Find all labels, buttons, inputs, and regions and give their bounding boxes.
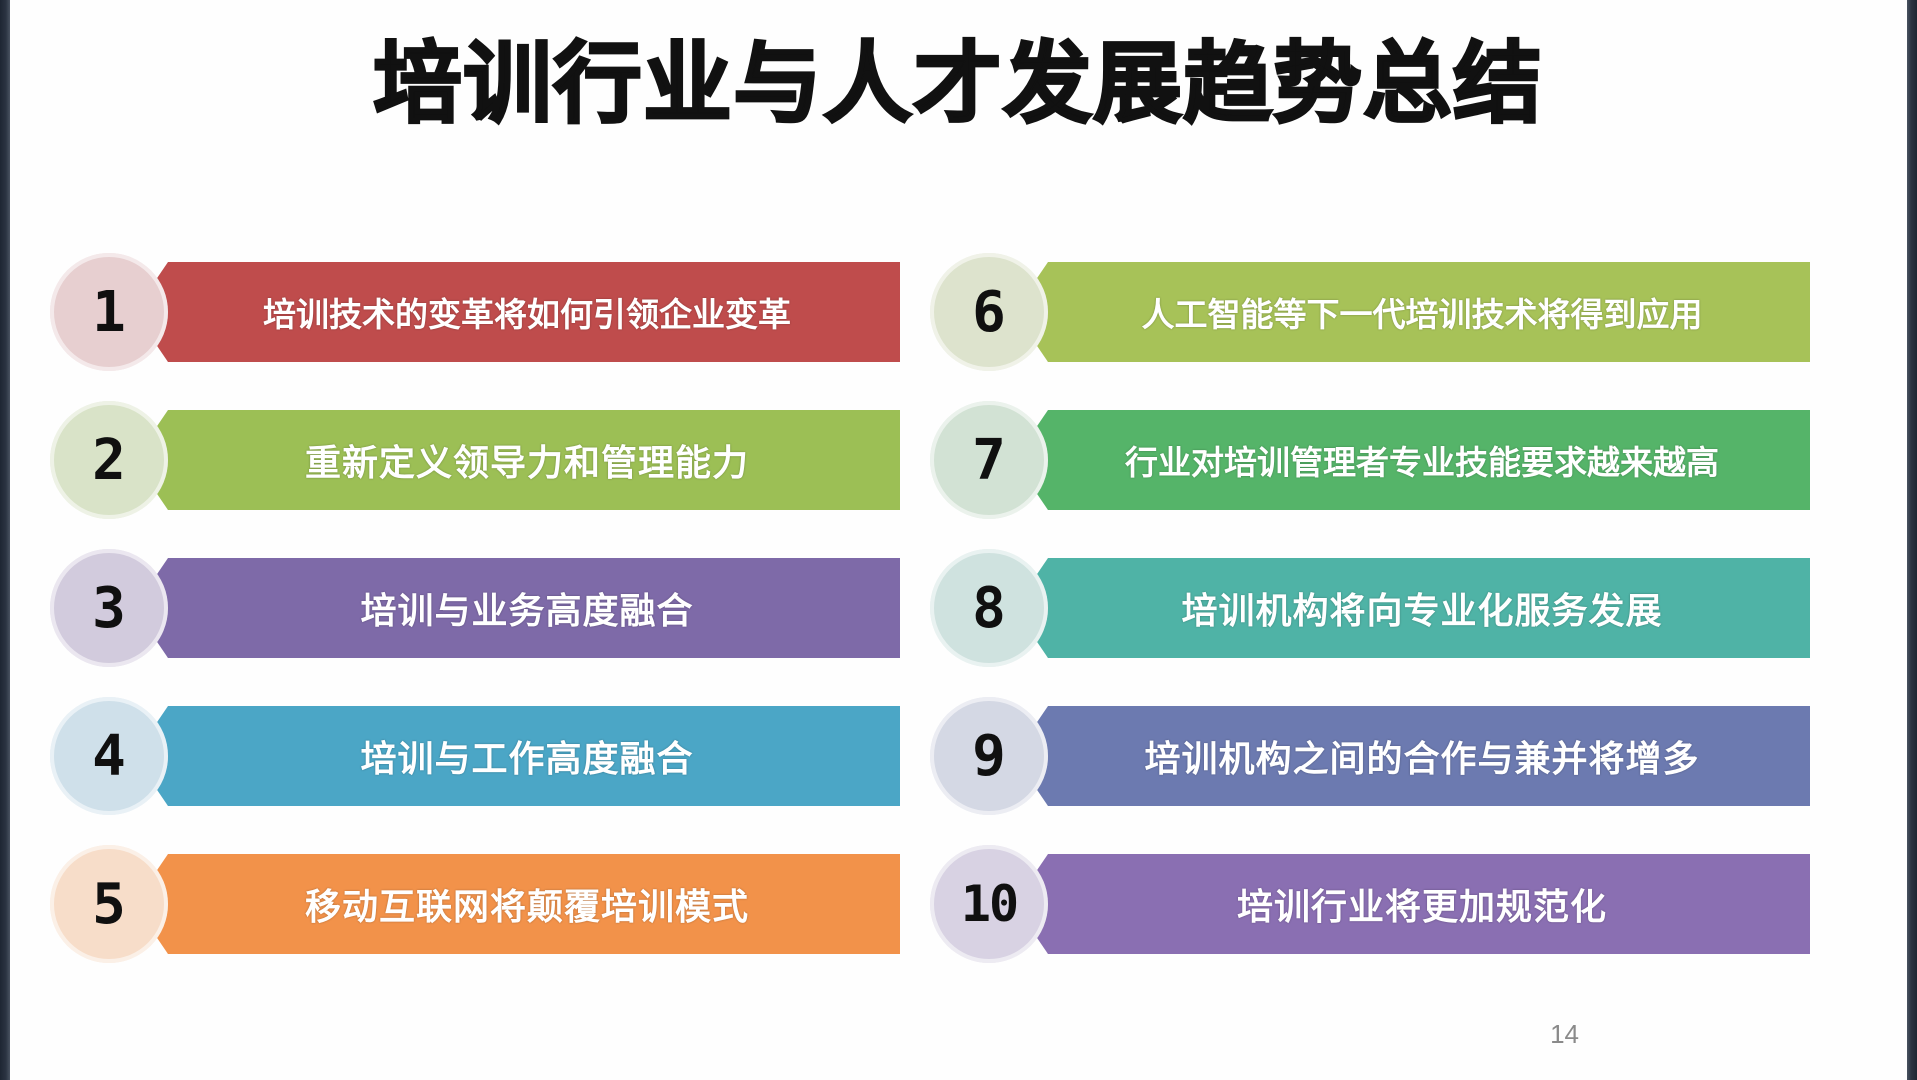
item-number-badge: 10 [930,845,1048,963]
item-number-badge: 5 [50,845,168,963]
page-title: 培训行业与人才发展趋势总结 [0,38,1917,130]
slide-canvas: 培训行业与人才发展趋势总结 1 培训技术的变革将如何引领企业变革 2 重新定义领… [0,0,1917,1080]
item-number-badge: 3 [50,549,168,667]
item-label: 培训机构之间的合作与兼并将增多 [1014,730,1810,782]
item-bar: 移动互联网将颠覆培训模式 [134,854,900,954]
item-label: 人工智能等下一代培训技术将得到应用 [1014,288,1810,336]
item-label: 培训机构将向专业化服务发展 [1014,582,1810,634]
list-item[interactable]: 7 行业对培训管理者专业技能要求越来越高 [930,401,1810,519]
list-item[interactable]: 6 人工智能等下一代培训技术将得到应用 [930,253,1810,371]
left-column: 1 培训技术的变革将如何引领企业变革 2 重新定义领导力和管理能力 3 培训与业… [50,253,900,993]
item-bar: 培训行业将更加规范化 [1014,854,1810,954]
item-label: 培训技术的变革将如何引领企业变革 [134,288,900,336]
item-number-badge: 4 [50,697,168,815]
page-number: 14 [1550,1019,1579,1050]
item-number-badge: 6 [930,253,1048,371]
list-item[interactable]: 1 培训技术的变革将如何引领企业变革 [50,253,900,371]
item-bar: 行业对培训管理者专业技能要求越来越高 [1014,410,1810,510]
item-number-badge: 9 [930,697,1048,815]
list-item[interactable]: 10 培训行业将更加规范化 [930,845,1810,963]
list-item[interactable]: 2 重新定义领导力和管理能力 [50,401,900,519]
item-bar: 人工智能等下一代培训技术将得到应用 [1014,262,1810,362]
item-number-badge: 7 [930,401,1048,519]
items-container: 1 培训技术的变革将如何引领企业变革 2 重新定义领导力和管理能力 3 培训与业… [0,253,1917,993]
item-bar: 培训机构将向专业化服务发展 [1014,558,1810,658]
list-item[interactable]: 3 培训与业务高度融合 [50,549,900,667]
item-bar: 培训与工作高度融合 [134,706,900,806]
list-item[interactable]: 4 培训与工作高度融合 [50,697,900,815]
item-label: 重新定义领导力和管理能力 [134,434,900,486]
list-item[interactable]: 5 移动互联网将颠覆培训模式 [50,845,900,963]
item-bar: 培训技术的变革将如何引领企业变革 [134,262,900,362]
item-number-badge: 1 [50,253,168,371]
list-item[interactable]: 9 培训机构之间的合作与兼并将增多 [930,697,1810,815]
item-bar: 培训机构之间的合作与兼并将增多 [1014,706,1810,806]
item-number-badge: 2 [50,401,168,519]
item-label: 行业对培训管理者专业技能要求越来越高 [1014,436,1810,484]
item-bar: 培训与业务高度融合 [134,558,900,658]
right-column: 6 人工智能等下一代培训技术将得到应用 7 行业对培训管理者专业技能要求越来越高… [930,253,1810,993]
item-label: 培训与业务高度融合 [134,582,900,634]
item-label: 培训行业将更加规范化 [1014,878,1810,930]
item-bar: 重新定义领导力和管理能力 [134,410,900,510]
item-number-badge: 8 [930,549,1048,667]
item-label: 培训与工作高度融合 [134,730,900,782]
list-item[interactable]: 8 培训机构将向专业化服务发展 [930,549,1810,667]
item-label: 移动互联网将颠覆培训模式 [134,878,900,930]
